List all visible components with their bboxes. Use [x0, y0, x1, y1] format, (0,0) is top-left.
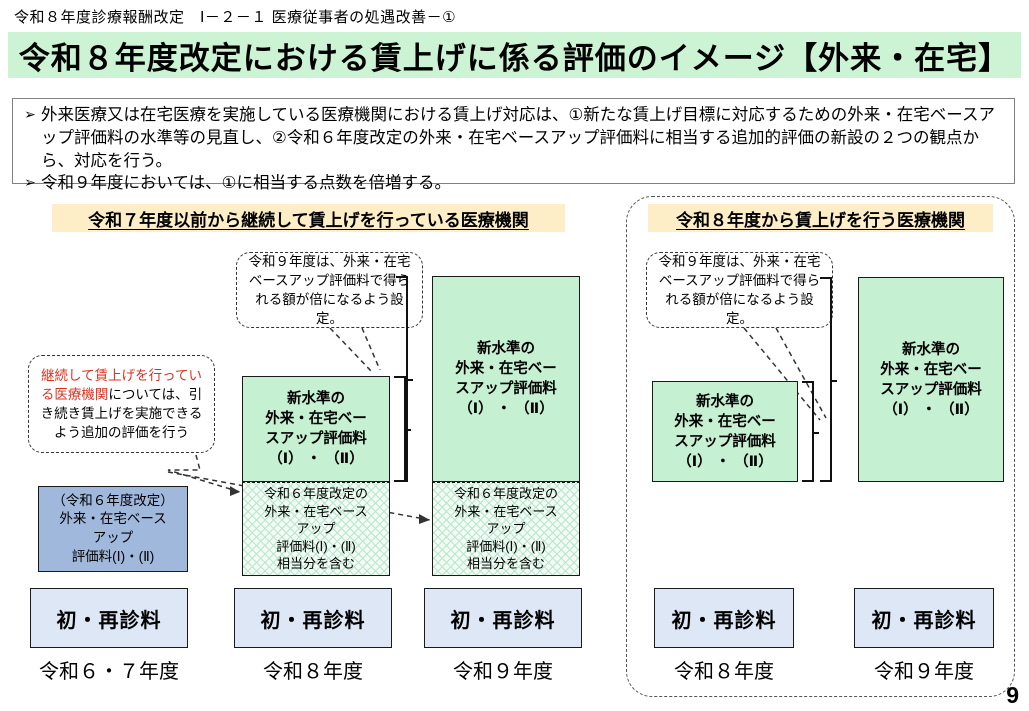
box-line: 外来・在宅ベース: [52, 510, 174, 529]
box-r6-equivalent-r8: 令和６年度改定の 外来・在宅ベース アップ 評価料(Ⅰ)・(Ⅱ) 相当分を含む: [242, 482, 390, 576]
box-consultation-fee-r67: 初・再診料: [30, 588, 188, 648]
callout-doubling-left: 令和９年度は、外来・在宅ベースアップ評価料で得られる額が倍になるよう設定。: [236, 252, 423, 328]
bullet-marker-icon: ➢: [19, 172, 41, 193]
box-line: 外来・在宅ベー: [265, 409, 367, 429]
box-line: スアップ評価料: [674, 432, 776, 452]
box-line: 評価料(Ⅰ)・(Ⅱ): [454, 538, 558, 555]
box-consultation-fee-right-r8: 初・再診料: [654, 588, 794, 648]
box-line: 新水準の: [880, 340, 982, 360]
bullet-text: 外来医療又は在宅医療を実施している医療機関における賃上げ対応は、①新たな賃上げ目…: [41, 104, 1008, 172]
box-line: （Ⅰ） ・ （Ⅱ）: [265, 449, 367, 469]
year-label-right-r8: 令和８年度: [644, 655, 804, 684]
box-line: スアップ評価料: [455, 379, 557, 399]
box-line: 外来・在宅ベー: [880, 360, 982, 380]
section-heading-left-label: 令和７年度以前から継続して賃上げを行っている医療機関: [88, 206, 529, 231]
box-consultation-fee-r8: 初・再診料: [234, 588, 392, 648]
callout-continuation: 継続して賃上げを行っている医療機関については、引き続き賃上げを実施できるよう追加…: [28, 355, 215, 453]
section-heading-right: 令和８年度から賃上げを行う医療機関: [648, 204, 993, 232]
box-new-standard-r8: 新水準の 外来・在宅ベー スアップ評価料 （Ⅰ） ・ （Ⅱ）: [242, 376, 390, 482]
box-new-standard-right-r8: 新水準の 外来・在宅ベー スアップ評価料 （Ⅰ） ・ （Ⅱ）: [652, 381, 798, 482]
box-line: 外来・在宅ベー: [674, 412, 776, 432]
box-line: 令和６年度改定の: [264, 485, 368, 502]
box-line: 外来・在宅ベース: [264, 503, 368, 520]
slide-title-banner: 令和８年度改定における賃上げに係る評価のイメージ【外来・在宅】: [8, 32, 1021, 78]
box-line: （Ⅰ） ・ （Ⅱ）: [880, 400, 982, 420]
bullet-item: ➢ 令和９年度においては、①に相当する点数を倍増する。: [19, 172, 1008, 195]
box-line: （令和６年度改定）: [52, 492, 174, 511]
year-label-r8: 令和８年度: [224, 655, 402, 684]
box-line: 評価料(Ⅰ)・(Ⅱ): [264, 538, 368, 555]
page-title: 令和８年度改定における賃上げに係る評価のイメージ【外来・在宅】: [19, 33, 1010, 78]
year-label-right-r9: 令和９年度: [844, 655, 1004, 684]
box-consultation-fee-right-r9: 初・再診料: [854, 588, 994, 648]
page-number: 9: [1006, 682, 1019, 709]
bracket-r9-left: [396, 276, 408, 482]
bracket-right-r9: [820, 277, 832, 482]
bullet-text: 令和９年度においては、①に相当する点数を倍増する。: [41, 172, 1008, 195]
box-line: アップ: [454, 520, 558, 537]
box-line: アップ: [264, 520, 368, 537]
box-r6-base-evaluation: （令和６年度改定） 外来・在宅ベース アップ 評価料(Ⅰ)・(Ⅱ): [38, 486, 188, 572]
box-line: 外来・在宅ベース: [454, 503, 558, 520]
box-line: スアップ評価料: [880, 380, 982, 400]
box-new-standard-right-r9: 新水準の 外来・在宅ベー スアップ評価料 （Ⅰ） ・ （Ⅱ）: [858, 277, 1004, 482]
section-heading-left: 令和７年度以前から継続して賃上げを行っている医療機関: [52, 204, 565, 232]
box-line: 外来・在宅ベー: [455, 359, 557, 379]
box-line: スアップ評価料: [265, 429, 367, 449]
section-heading-right-label: 令和８年度から賃上げを行う医療機関: [676, 206, 965, 231]
box-line: 新水準の: [674, 392, 776, 412]
slide-kicker: 令和８年度診療報酬改定 Ⅰ－２－１ 医療従事者の処遇改善－①: [14, 6, 456, 27]
bullet-marker-icon: ➢: [19, 104, 41, 125]
box-line: （Ⅰ） ・ （Ⅱ）: [674, 452, 776, 472]
bracket-right-r8: [802, 381, 814, 482]
box-r6-equivalent-r9: 令和６年度改定の 外来・在宅ベース アップ 評価料(Ⅰ)・(Ⅱ) 相当分を含む: [432, 482, 580, 576]
box-line: 相当分を含む: [454, 555, 558, 572]
box-line: アップ: [52, 529, 174, 548]
box-consultation-fee-r9: 初・再診料: [424, 588, 582, 648]
slide-canvas: 令和８年度診療報酬改定 Ⅰ－２－１ 医療従事者の処遇改善－① 令和８年度改定にお…: [0, 0, 1029, 711]
callout-doubling-right: 令和９年度は、外来・在宅ベースアップ評価料で得られる額が倍になるよう設定。: [646, 252, 833, 328]
box-line: 評価料(Ⅰ)・(Ⅱ): [52, 548, 174, 567]
year-label-r67: 令和６・７年度: [18, 655, 200, 684]
box-line: 相当分を含む: [264, 555, 368, 572]
summary-bullet-box: ➢ 外来医療又は在宅医療を実施している医療機関における賃上げ対応は、①新たな賃上…: [12, 98, 1015, 184]
box-new-standard-r9: 新水準の 外来・在宅ベー スアップ評価料 （Ⅰ） ・ （Ⅱ）: [432, 276, 580, 482]
box-line: （Ⅰ） ・ （Ⅱ）: [455, 399, 557, 419]
callout-doubling-right-text: 令和９年度は、外来・在宅ベースアップ評価料で得られる額が倍になるよう設定。: [654, 252, 825, 329]
callout-doubling-left-text: 令和９年度は、外来・在宅ベースアップ評価料で得られる額が倍になるよう設定。: [244, 252, 415, 329]
box-line: 令和６年度改定の: [454, 485, 558, 502]
bullet-item: ➢ 外来医療又は在宅医療を実施している医療機関における賃上げ対応は、①新たな賃上…: [19, 104, 1008, 172]
year-label-r9: 令和９年度: [414, 655, 592, 684]
box-line: 新水準の: [265, 389, 367, 409]
box-line: 新水準の: [455, 339, 557, 359]
